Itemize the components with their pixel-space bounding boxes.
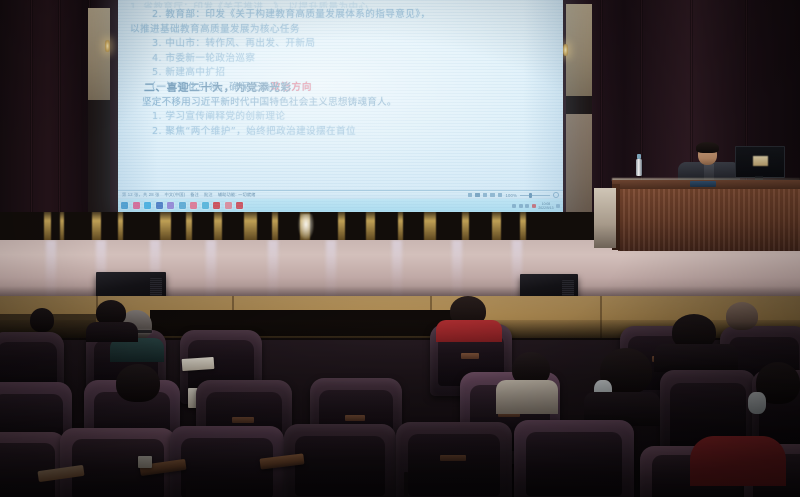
slide-counter: 第 12 张，共 28 张	[122, 192, 160, 198]
lectern-nameplate	[690, 181, 716, 187]
volume-icon[interactable]	[525, 204, 529, 208]
audience-shoulders	[86, 322, 138, 342]
seat-cushion	[408, 434, 501, 496]
chat-icon[interactable]	[225, 202, 232, 209]
show-desktop-icon[interactable]	[556, 204, 560, 208]
slide-numbered-item: 1. 学习宣传阐释党的创新理论	[130, 110, 547, 125]
wall-panel-left	[88, 8, 110, 100]
wall-shadow-left	[88, 100, 110, 212]
status-right-group: 100%	[468, 192, 563, 198]
slide-line: 3. 中山市：转作风、再出发、开新局	[130, 37, 547, 52]
view-normal-icon[interactable]	[468, 193, 473, 198]
taskbar-clock[interactable]: 10:08 2022/9/13	[538, 202, 553, 210]
network-icon[interactable]	[519, 204, 523, 208]
backdrop-motif	[298, 214, 314, 240]
zoom-level-label: 100%	[505, 193, 517, 198]
slide-line: 以推进基础教育高质量发展为核心任务	[130, 23, 547, 38]
slide-line: 1. 省教育厅：印发《关于推进…》，以提升质量为中心	[130, 1, 547, 8]
seat-leg	[404, 472, 408, 496]
water-bottle	[636, 154, 642, 176]
comments-button[interactable]: 批注	[204, 192, 213, 198]
slide-body-line: 坚定不移用习近平新时代中国特色社会主义思想铸魂育人。	[130, 96, 547, 111]
auditorium-photo: 1. 省教育厅：印发《关于推进…》，以提升质量为中心 2. 教育部：印发《关于构…	[0, 0, 800, 497]
audience-area	[0, 296, 800, 497]
open-notebook	[182, 357, 215, 371]
powerpoint-status-bar[interactable]: 第 12 张，共 28 张 中文(中国) 备注 批注 辅助功能: 一切就绪 10…	[118, 190, 563, 199]
chevron-up-icon[interactable]	[512, 204, 516, 208]
audience-head	[30, 308, 54, 332]
wall-panel-right	[566, 4, 592, 96]
seat-number-tag	[345, 415, 365, 421]
fit-window-icon[interactable]	[553, 192, 559, 198]
seat-cushion	[181, 438, 272, 497]
seat-cushion	[526, 432, 622, 495]
clock-date: 2022/9/13	[538, 206, 553, 210]
seat-cushion	[295, 436, 385, 496]
system-tray[interactable]: 10:08 2022/9/13	[512, 202, 563, 210]
lectern-body	[618, 189, 800, 251]
lectern-area	[612, 150, 800, 250]
explorer-icon[interactable]	[144, 202, 151, 209]
view-sorter-icon[interactable]	[475, 193, 480, 198]
bottle-cap	[637, 154, 640, 159]
windows-taskbar[interactable]: 10:08 2022/9/13	[118, 199, 563, 212]
monitor-backlight	[753, 156, 768, 166]
seat-number-tag	[232, 417, 253, 423]
stage-step	[594, 188, 616, 248]
presenter-hair	[696, 142, 719, 153]
qq-icon[interactable]	[167, 202, 174, 209]
bottle-body	[636, 159, 642, 176]
folder-icon[interactable]	[179, 202, 186, 209]
view-slideshow-icon[interactable]	[490, 193, 495, 198]
language-indicator[interactable]: 中文(中国)	[165, 192, 186, 198]
notes-button[interactable]: 备注	[190, 192, 199, 198]
slide-line: 5. 新建高中扩招	[130, 66, 547, 81]
pdf-icon[interactable]	[213, 202, 220, 209]
seat-number-tag	[461, 353, 479, 359]
zoom-slider-knob[interactable]	[529, 193, 532, 198]
audience-head	[116, 364, 160, 402]
audience-shoulders	[496, 380, 558, 414]
accessibility-status[interactable]: 辅助功能: 一切就绪	[218, 192, 256, 198]
mail-icon[interactable]	[202, 202, 209, 209]
paper-sheet	[138, 456, 152, 468]
seat	[0, 432, 66, 497]
browser-icon[interactable]	[133, 202, 140, 209]
audience-head	[726, 302, 758, 330]
media-icon[interactable]	[156, 202, 163, 209]
speaker-grille-icon	[150, 278, 162, 296]
slide-heading: 二、喜迎二十大，为党添光彩	[130, 81, 292, 96]
view-reading-icon[interactable]	[483, 193, 488, 198]
status-left-group: 第 12 张，共 28 张 中文(中国) 备注 批注 辅助功能: 一切就绪	[118, 192, 256, 198]
wall-lamp-icon	[563, 44, 568, 56]
start-icon[interactable]	[121, 202, 128, 209]
zoom-slider[interactable]	[520, 195, 550, 196]
slide-line: 2. 教育部：印发《关于构建教育高质量发展体系的指导意见》，	[130, 8, 547, 23]
photos-icon[interactable]	[190, 202, 197, 209]
face-mask	[748, 392, 766, 414]
seat-number-tag	[440, 455, 466, 461]
fit-slide-icon[interactable]	[498, 193, 503, 198]
lectern-monitor	[735, 146, 783, 182]
audience-shoulders	[436, 320, 502, 342]
antivirus-icon[interactable]	[532, 204, 536, 208]
projection-screen: 1. 省教育厅：印发《关于推进…》，以提升质量为中心 2. 教育部：印发《关于构…	[118, 0, 563, 212]
seat-leg	[186, 482, 190, 497]
seat	[396, 422, 512, 497]
seat	[514, 420, 634, 497]
audience-shoulders	[654, 344, 738, 372]
slide-content: 1. 省教育厅：印发《关于推进…》，以提升质量为中心 2. 教育部：印发《关于构…	[118, 0, 563, 186]
slide-numbered-item: 2. 聚焦“两个维护”，始终把政治建设摆在首位	[130, 125, 547, 140]
monitor-screen	[735, 146, 785, 178]
audience-shoulders	[690, 436, 786, 486]
wall-lamp-icon	[105, 40, 110, 52]
slide-line: 4. 市委新一轮政治巡察	[130, 52, 547, 67]
wall-shadow-right	[566, 96, 592, 114]
wps-icon[interactable]	[236, 202, 243, 209]
